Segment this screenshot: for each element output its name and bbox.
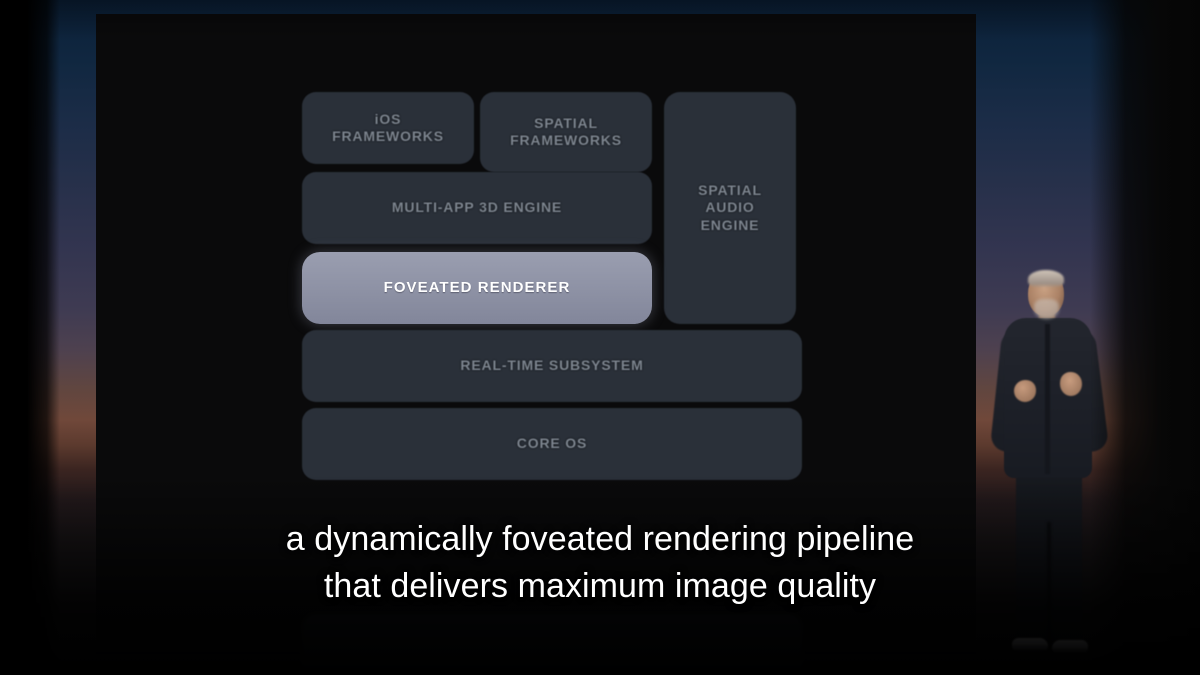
block-real-time-subsystem: REAL-TIME SUBSYSTEM bbox=[302, 330, 802, 402]
block-label: iOS FRAMEWORKS bbox=[332, 111, 444, 145]
block-multi-app-3d-engine: MULTI-APP 3D ENGINE bbox=[302, 172, 652, 244]
block-core-os: CORE OS bbox=[302, 408, 802, 480]
block-spatial-frameworks: SPATIAL FRAMEWORKS bbox=[480, 92, 652, 172]
presenter-hand-left bbox=[1014, 380, 1036, 402]
caption-line-1: a dynamically foveated rendering pipelin… bbox=[0, 516, 1200, 563]
presenter-hair bbox=[1028, 270, 1064, 288]
block-label: SPATIAL AUDIO ENGINE bbox=[698, 182, 762, 233]
presentation-stage: iOS FRAMEWORKS SPATIAL FRAMEWORKS SPATIA… bbox=[0, 0, 1200, 675]
block-ios-frameworks: iOS FRAMEWORKS bbox=[302, 92, 474, 164]
vignette-top bbox=[0, 0, 1200, 40]
presenter-beard bbox=[1034, 299, 1059, 319]
block-foveated-renderer: FOVEATED RENDERER bbox=[302, 252, 652, 324]
presenter-hand-right bbox=[1060, 372, 1082, 396]
block-label: MULTI-APP 3D ENGINE bbox=[392, 199, 562, 216]
block-spatial-audio-engine: SPATIAL AUDIO ENGINE bbox=[664, 92, 796, 324]
caption-line-2: that delivers maximum image quality bbox=[0, 563, 1200, 610]
block-label: SPATIAL FRAMEWORKS bbox=[510, 115, 622, 149]
presenter-shirt-placket bbox=[1045, 324, 1050, 474]
block-label: REAL-TIME SUBSYSTEM bbox=[460, 357, 643, 374]
block-label: CORE OS bbox=[517, 435, 587, 452]
block-label: FOVEATED RENDERER bbox=[384, 279, 571, 297]
subtitle-caption: a dynamically foveated rendering pipelin… bbox=[0, 516, 1200, 610]
